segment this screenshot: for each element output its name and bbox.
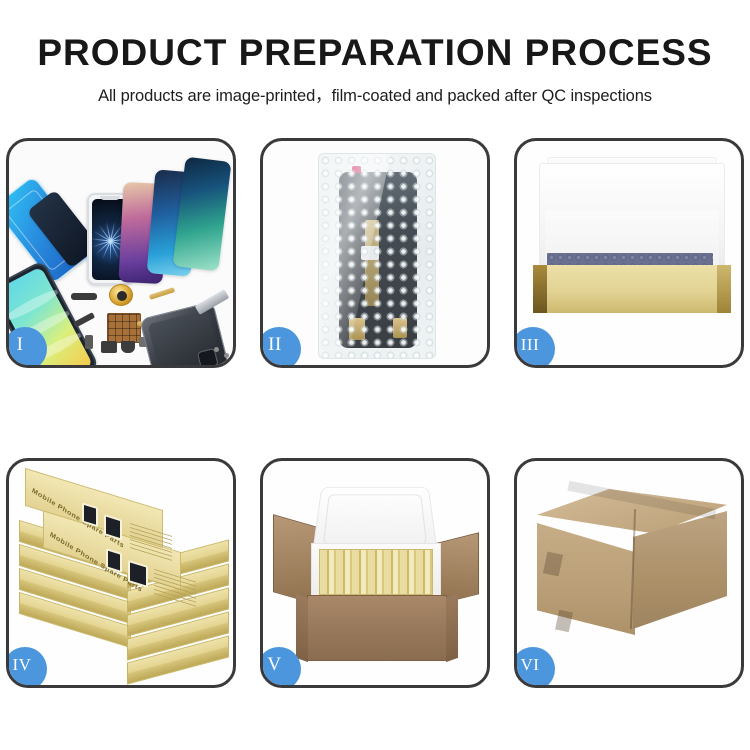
vibration-motor-part <box>109 284 133 306</box>
step-badge-5: V <box>260 647 301 688</box>
process-step-1: I <box>6 138 236 368</box>
flex-cable-part-a <box>149 287 175 300</box>
small-part-d <box>121 341 135 353</box>
process-step-grid: I II <box>6 138 744 688</box>
process-step-4: Mobile Phone Spare Parts Mobile Phone Sp… <box>6 458 236 688</box>
box-stack: Mobile Phone Spare Parts Mobile Phone Sp… <box>15 475 231 673</box>
small-part-b <box>85 335 93 349</box>
step-badge-2: II <box>260 327 301 368</box>
process-step-6: VI <box>514 458 744 688</box>
process-step-3: III <box>514 138 744 368</box>
photo-stacked-retail-boxes: Mobile Phone Spare Parts Mobile Phone Sp… <box>9 461 233 685</box>
process-step-2: II <box>260 138 490 368</box>
product-preparation-infographic: PRODUCT PREPARATION PROCESS All products… <box>0 0 750 750</box>
kraft-tray-base <box>533 265 731 313</box>
step-badge-1: I <box>6 327 47 368</box>
header: PRODUCT PREPARATION PROCESS All products… <box>0 0 750 106</box>
small-part-a <box>73 312 95 328</box>
screw-part-a <box>214 347 219 352</box>
small-part-c <box>101 341 117 353</box>
step-badge-4: IV <box>6 647 47 688</box>
carton-front-panel <box>307 595 447 661</box>
photo-assorted-phone-parts <box>9 141 233 365</box>
carton-tape-patch-bottom <box>555 610 573 632</box>
phone-notch <box>100 196 120 200</box>
page-title: PRODUCT PREPARATION PROCESS <box>0 34 750 72</box>
chip-grid-part <box>107 313 141 343</box>
tray-left-end <box>533 265 547 313</box>
process-step-5: V <box>260 458 490 688</box>
photo-sealed-carton <box>517 461 741 685</box>
photo-foam-lined-tray-box <box>517 141 741 365</box>
phone-rear-housing <box>139 301 231 365</box>
photo-bubble-wrapped-screen <box>263 141 487 365</box>
screw-part-b <box>224 353 229 358</box>
photo-open-carton-with-foam-box <box>263 461 487 685</box>
packed-boxes-inside <box>319 549 433 595</box>
step-badge-6: VI <box>514 647 555 688</box>
step-badge-3: III <box>514 327 555 368</box>
spare-part-strip <box>71 293 97 300</box>
carton-left-face <box>537 523 635 635</box>
bubble-wrap-bag <box>318 153 436 359</box>
page-subtitle: All products are image-printed，film-coat… <box>0 82 750 106</box>
tray-right-end <box>717 265 731 313</box>
